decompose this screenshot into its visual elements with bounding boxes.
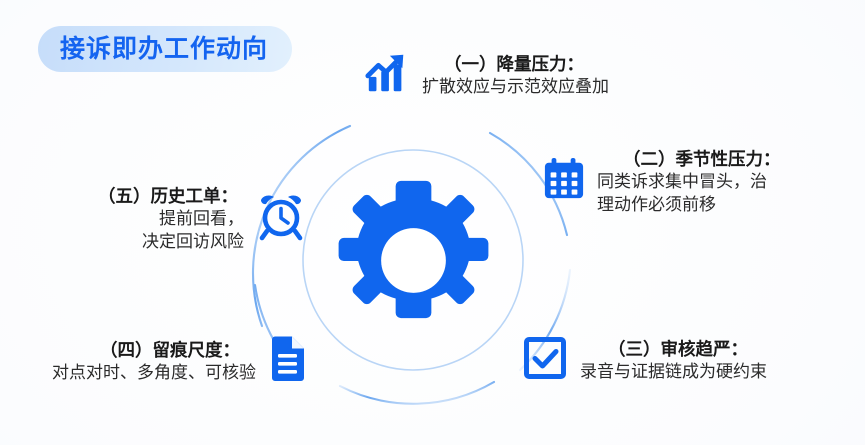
growth-bar-chart-icon xyxy=(364,50,410,101)
item-2: （二）季节性压力： 同类诉求集中冒头，治 理动作必须前移 xyxy=(543,148,781,216)
item-1-body-line-1: 扩散效应与示范效应叠加 xyxy=(422,76,609,98)
item-5-body-line-1: 提前回看， xyxy=(159,208,244,230)
item-1-text: （一）降量压力： 扩散效应与示范效应叠加 xyxy=(422,53,609,99)
item-2-text: （二）季节性压力： 同类诉求集中冒头，治 理动作必须前移 xyxy=(597,148,781,216)
item-5: （五）历史工单： 提前回看， 决定回访风险 xyxy=(98,185,306,253)
calendar-icon xyxy=(543,157,585,206)
item-2-body-line-2: 理动作必须前移 xyxy=(597,194,716,216)
item-3-text: （三）审核趋严： 录音与证据链成为硬约束 xyxy=(580,338,767,384)
checkbox-check-icon xyxy=(523,336,567,385)
item-3-body-line-1: 录音与证据链成为硬约束 xyxy=(580,361,767,383)
item-2-heading: （二）季节性压力： xyxy=(623,148,781,171)
item-5-heading: （五）历史工单： xyxy=(98,185,238,208)
item-2-body-line-1: 同类诉求集中冒头，治 xyxy=(597,171,767,193)
item-5-text: （五）历史工单： 提前回看， 决定回访风险 xyxy=(98,185,244,253)
page-title-badge: 接诉即办工作动向 xyxy=(38,26,292,72)
item-4: （四）留痕尺度： 对点对时、多角度、可核验 xyxy=(52,336,307,387)
item-4-body-line-1: 对点对时、多角度、可核验 xyxy=(52,362,256,384)
item-4-heading: （四）留痕尺度： xyxy=(100,339,240,362)
item-5-body-line-2: 决定回访风险 xyxy=(142,231,244,253)
infographic-canvas: 接诉即办工作动向 （一）降量压力： 扩散效应与示范效应叠加 xyxy=(0,0,865,445)
item-4-text: （四）留痕尺度： 对点对时、多角度、可核验 xyxy=(52,339,256,385)
page-title: 接诉即办工作动向 xyxy=(60,37,268,62)
document-icon xyxy=(269,336,307,387)
alarm-clock-icon xyxy=(256,191,306,246)
gear-icon xyxy=(326,173,501,348)
item-1: （一）降量压力： 扩散效应与示范效应叠加 xyxy=(364,50,609,101)
item-3: （三）审核趋严： 录音与证据链成为硬约束 xyxy=(523,336,767,385)
center-gear xyxy=(318,165,508,355)
ring-arc-bottom xyxy=(340,382,494,404)
item-1-heading: （一）降量压力： xyxy=(444,53,584,76)
item-3-heading: （三）审核趋严： xyxy=(608,338,748,361)
